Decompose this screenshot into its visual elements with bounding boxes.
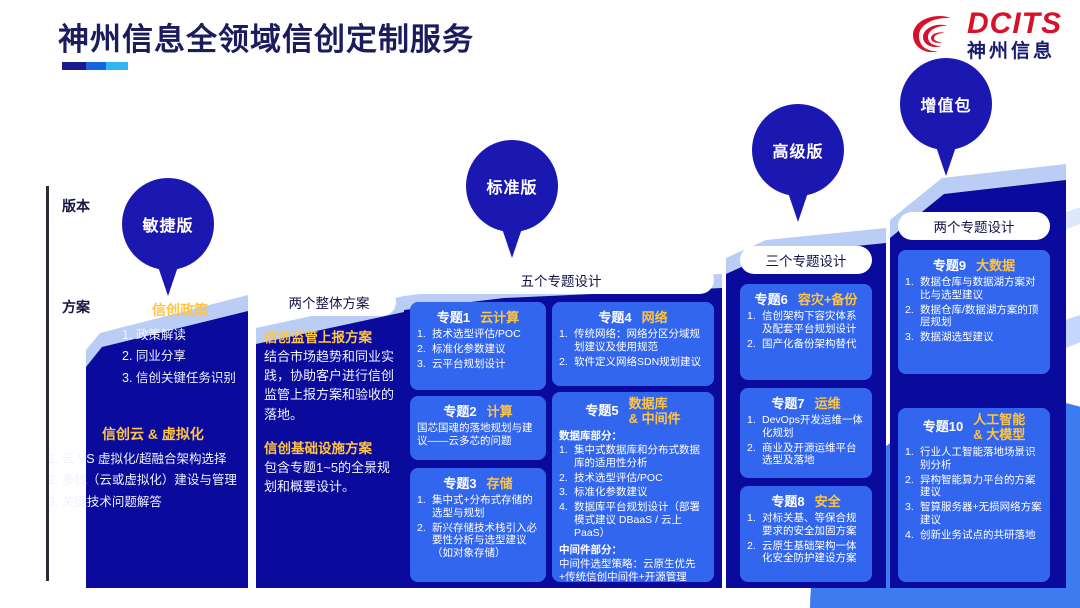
topic-card-10[interactable]: 专题10 人工智能 & 大模型 1.行业人工智能落地场景识别分析 2.异构智能算… (898, 408, 1050, 582)
topic-3-list: 1.集中式+分布式存储的选型与规划 2.新兴存储技术栈引入必要性分析与选型建议（… (417, 494, 539, 560)
topic-5-tag: 数据库 & 中间件 (629, 397, 681, 426)
topic-card-1[interactable]: 专题1 云计算 1.技术选型评估/POC 2.标准化参数建议 3.云平台规划设计 (410, 302, 546, 390)
topic-5-section2-body: 中间件选型策略：云原生优先+传统信创中间件+开源管理 (559, 558, 707, 584)
list-item: 1. 云 VS 虚拟化/超融合架构选择 (48, 449, 262, 470)
column-agile-content-2: 信创云 & 虚拟化 1. 云 VS 虚拟化/超融合架构选择 2. 多栈（云或虚拟… (44, 424, 262, 513)
pin-marker-valueadd[interactable]: 增值包 (900, 58, 992, 176)
topic-card-3[interactable]: 专题3 存储 1.集中式+分布式存储的选型与规划 2.新兴存储技术栈引入必要性分… (410, 468, 546, 582)
list-item: 1.集中式数据库和分布式数据库的适用性分析 (559, 444, 707, 470)
pin-marker-standard[interactable]: 标准版 (466, 140, 558, 258)
list-item: 2.新兴存储技术栈引入必要性分析与选型建议（如对象存储） (417, 522, 539, 560)
agile-block1-heading: 信创政策 (104, 300, 256, 320)
topic-1-number: 专题1 (437, 307, 470, 326)
list-item: 3. 关键技术问题解答 (48, 492, 262, 513)
topic-5-section2-label: 中间件部分： (559, 542, 707, 557)
list-item: 2.商业及开源运维平台选型及落地 (747, 442, 865, 468)
column-agile-content: 信创政策 1. 政策解读 2. 同业分享 3. 信创关键任务识别 (104, 300, 256, 389)
topic-6-number: 专题6 (755, 289, 788, 308)
topic-4-number: 专题4 (598, 307, 631, 326)
topic-7-tag: 运维 (815, 393, 841, 412)
pin-label-advanced: 高级版 (772, 138, 823, 162)
pin-label-standard: 标准版 (486, 174, 537, 198)
logo-text-cn: 神州信息 (967, 42, 1062, 61)
plan2-body: 包含专题1~5的全景规划和概要设计。 (264, 458, 400, 496)
topic-8-list: 1.对标关基、等保合规要求的安全加固方案 2.云原生基础架构一体化安全防护建设方… (747, 512, 865, 565)
page-title: 神州信息全领域信创定制服务 (58, 14, 474, 59)
column-overall-plans: 信创监管上报方案 结合市场趋势和同业实践，协助客户进行信创监管上报方案和验收的落… (264, 326, 400, 496)
topic-card-8[interactable]: 专题8 安全 1.对标关基、等保合规要求的安全加固方案 2.云原生基础架构一体化… (740, 486, 872, 582)
list-item: 2.云原生基础架构一体化安全防护建设方案 (747, 540, 865, 566)
plan1-body: 结合市场趋势和同业实践，协助客户进行信创监管上报方案和验收的落地。 (264, 347, 400, 424)
axis-label-solution: 方案 (62, 297, 90, 317)
list-item: 2.软件定义网络SDN规划建议 (559, 356, 707, 369)
list-item: 2.数据仓库/数据湖方案的顶层规划 (905, 304, 1043, 330)
topic-card-2[interactable]: 专题2 计算 国芯国魂的落地规划与建议——云多芯的问题 (410, 396, 546, 460)
plan2-heading: 信创基础设施方案 (264, 437, 400, 457)
pin-label-agile: 敏捷版 (142, 212, 193, 236)
topic-9-number: 专题9 (933, 255, 966, 274)
axis-vertical-line (46, 186, 49, 581)
pin-label-valueadd: 增值包 (920, 92, 971, 116)
topic-6-list: 1.信创架构下容灾体系及配套平台规划设计 2.国产化备份架构替代 (747, 310, 865, 350)
logo-text-en: DCITS (967, 9, 1062, 39)
topic-card-9[interactable]: 专题9 大数据 1.数据仓库与数据湖方案对比与选型建议 2.数据仓库/数据湖方案… (898, 250, 1050, 374)
list-item: 3.标准化参数建议 (559, 486, 707, 499)
list-item: 1.DevOps开发运维一体化规划 (747, 414, 865, 440)
pill-three-topics[interactable]: 三个专题设计 (740, 246, 872, 274)
topic-1-list: 1.技术选型评估/POC 2.标准化参数建议 3.云平台规划设计 (417, 328, 539, 370)
topic-3-number: 专题3 (443, 473, 476, 492)
topic-2-number: 专题2 (443, 401, 476, 420)
title-underline (62, 62, 128, 70)
slide-canvas: 神州信息全领域信创定制服务 DCITS 神州信息 版本 方案 (0, 0, 1080, 608)
topic-2-tag: 计算 (487, 401, 513, 420)
agile-block2-heading: 信创云 & 虚拟化 (44, 424, 262, 444)
list-item: 1.传统网络：网络分区分域规划建议及使用规范 (559, 328, 707, 354)
pin-marker-advanced[interactable]: 高级版 (752, 104, 844, 222)
pill-five-topics[interactable]: 五个专题设计 (408, 266, 714, 294)
list-item: 3. 信创关键任务识别 (122, 368, 256, 389)
list-item: 4.创新业务试点的共研落地 (905, 529, 1043, 542)
pin-marker-agile[interactable]: 敏捷版 (122, 178, 214, 296)
topic-5-list: 1.集中式数据库和分布式数据库的适用性分析 2.技术选型评估/POC 3.标准化… (559, 444, 707, 540)
list-item: 1.信创架构下容灾体系及配套平台规划设计 (747, 310, 865, 336)
agile-block1-list: 1. 政策解读 2. 同业分享 3. 信创关键任务识别 (122, 325, 256, 389)
list-item: 2. 同业分享 (122, 346, 256, 367)
topic-10-tag: 人工智能 & 大模型 (973, 413, 1025, 442)
list-item: 2.异构智能算力平台的方案建议 (905, 474, 1043, 500)
topic-4-tag: 网络 (642, 307, 668, 326)
list-item: 1.对标关基、等保合规要求的安全加固方案 (747, 512, 865, 538)
list-item: 3.数据湖选型建议 (905, 331, 1043, 344)
topic-3-tag: 存储 (487, 473, 513, 492)
agile-block2-list: 1. 云 VS 虚拟化/超融合架构选择 2. 多栈（云或虚拟化）建设与管理 3.… (48, 449, 262, 513)
list-item: 4.数据库平台规划设计（部署模式建议 DBaaS / 云上PaaS） (559, 501, 707, 539)
list-item: 1.行业人工智能落地场景识别分析 (905, 446, 1043, 472)
topic-10-number: 专题10 (923, 416, 963, 435)
topic-4-list: 1.传统网络：网络分区分域规划建议及使用规范 2.软件定义网络SDN规划建议 (559, 328, 707, 368)
list-item: 1.集中式+分布式存储的选型与规划 (417, 494, 539, 520)
topic-10-list: 1.行业人工智能落地场景识别分析 2.异构智能算力平台的方案建议 3.智算服务器… (905, 446, 1043, 542)
list-item: 1.数据仓库与数据湖方案对比与选型建议 (905, 276, 1043, 302)
topic-9-tag: 大数据 (976, 255, 1015, 274)
list-item: 3.云平台规划设计 (417, 358, 539, 371)
dcits-swoosh-icon (907, 8, 961, 62)
topic-6-tag: 容灾+备份 (798, 289, 858, 308)
pill-two-topics[interactable]: 两个专题设计 (898, 212, 1050, 240)
topic-7-number: 专题7 (771, 393, 804, 412)
topic-card-4[interactable]: 专题4 网络 1.传统网络：网络分区分域规划建议及使用规范 2.软件定义网络SD… (552, 302, 714, 386)
topic-5-section1-label: 数据库部分： (559, 428, 707, 443)
list-item: 2. 多栈（云或虚拟化）建设与管理 (48, 470, 262, 491)
list-item: 2.标准化参数建议 (417, 343, 539, 356)
list-item: 1. 政策解读 (122, 325, 256, 346)
topic-5-number: 专题5 (585, 400, 618, 419)
pill-two-overall-plans[interactable]: 两个整体方案 (262, 288, 396, 316)
brand-logo: DCITS 神州信息 (907, 8, 1062, 62)
topic-8-tag: 安全 (815, 491, 841, 510)
list-item: 1.技术选型评估/POC (417, 328, 539, 341)
list-item: 2.国产化备份架构替代 (747, 338, 865, 351)
topic-7-list: 1.DevOps开发运维一体化规划 2.商业及开源运维平台选型及落地 (747, 414, 865, 467)
list-item: 2.技术选型评估/POC (559, 472, 707, 485)
topic-card-6[interactable]: 专题6 容灾+备份 1.信创架构下容灾体系及配套平台规划设计 2.国产化备份架构… (740, 284, 872, 380)
topic-2-body: 国芯国魂的落地规划与建议——云多芯的问题 (417, 422, 539, 448)
topic-card-7[interactable]: 专题7 运维 1.DevOps开发运维一体化规划 2.商业及开源运维平台选型及落… (740, 388, 872, 478)
plan1-heading: 信创监管上报方案 (264, 326, 400, 346)
topic-card-5[interactable]: 专题5 数据库 & 中间件 数据库部分： 1.集中式数据库和分布式数据库的适用性… (552, 392, 714, 582)
topic-8-number: 专题8 (771, 491, 804, 510)
list-item: 3.智算服务器+无损网络方案建议 (905, 501, 1043, 527)
axis-label-version: 版本 (62, 196, 90, 216)
topic-9-list: 1.数据仓库与数据湖方案对比与选型建议 2.数据仓库/数据湖方案的顶层规划 3.… (905, 276, 1043, 344)
topic-1-tag: 云计算 (480, 307, 519, 326)
